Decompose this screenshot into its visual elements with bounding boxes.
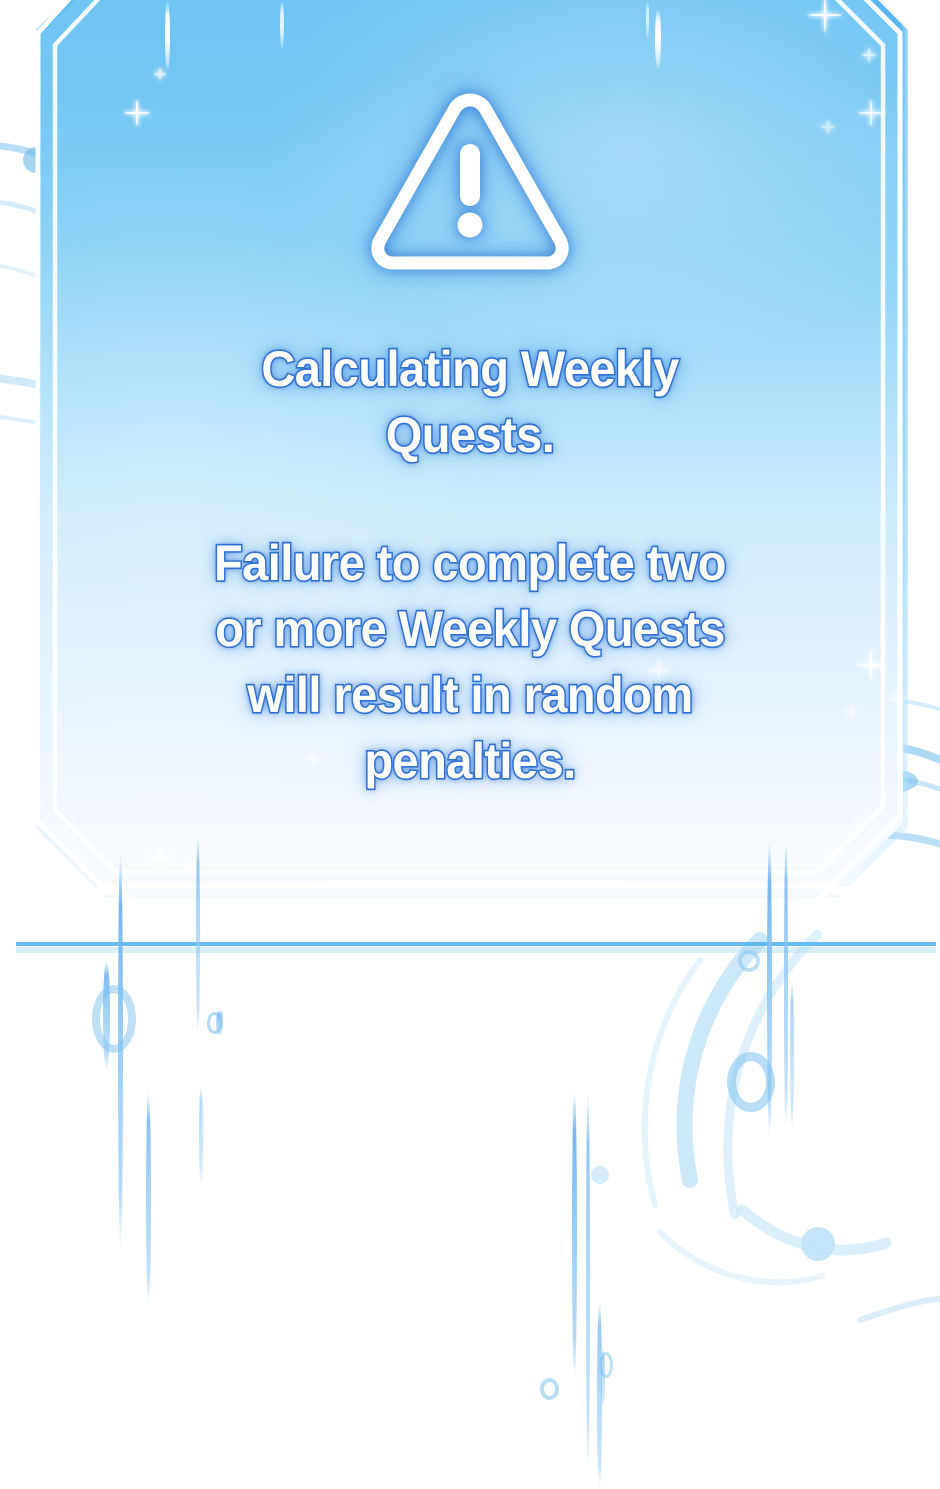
light-streak <box>146 1090 151 1305</box>
light-streak <box>572 1090 577 1380</box>
light-streak <box>597 1300 602 1489</box>
ring-accent <box>92 985 136 1053</box>
screen: Calculating Weekly Quests. Failure to co… <box>0 0 940 1489</box>
light-streak <box>103 960 110 1070</box>
ring-accent <box>540 1378 559 1400</box>
ring-accent <box>727 1052 775 1112</box>
light-streak <box>586 1090 590 1470</box>
ring-accent <box>599 1352 613 1378</box>
light-streak <box>790 980 794 1130</box>
warning-triangle-icon <box>367 88 573 274</box>
light-streak <box>199 1085 203 1185</box>
light-streak <box>601 1348 605 1408</box>
ring-accent <box>207 1012 222 1034</box>
light-streak <box>216 1010 223 1036</box>
